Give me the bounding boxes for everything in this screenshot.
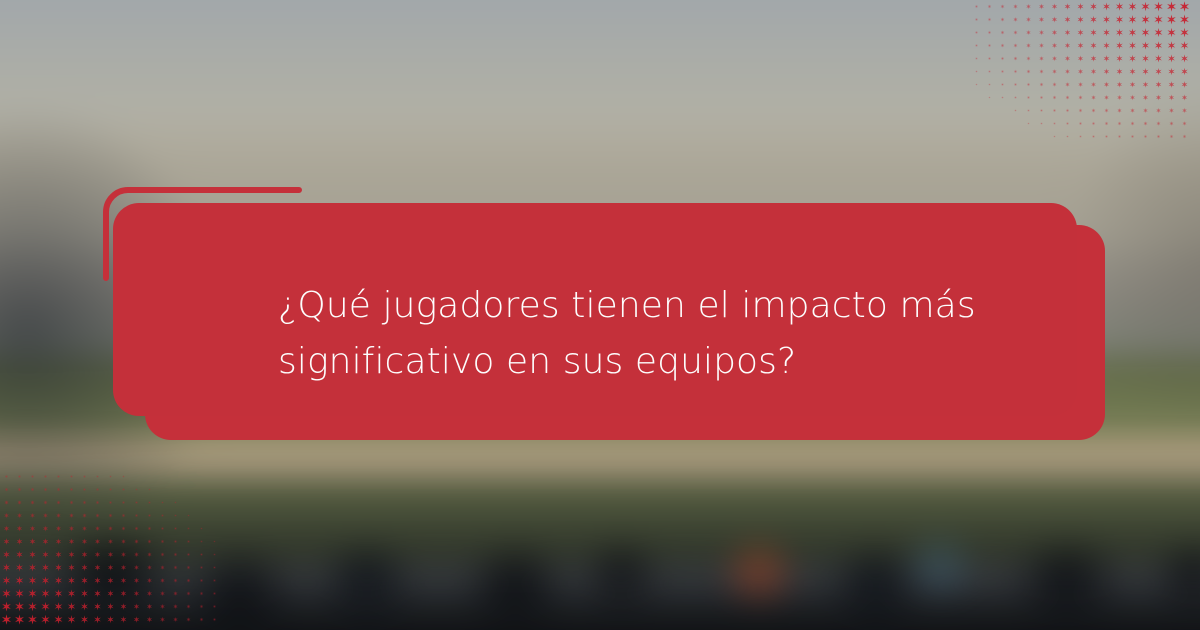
page-title: ¿Qué jugadores tienen el impacto más sig…	[278, 278, 978, 390]
